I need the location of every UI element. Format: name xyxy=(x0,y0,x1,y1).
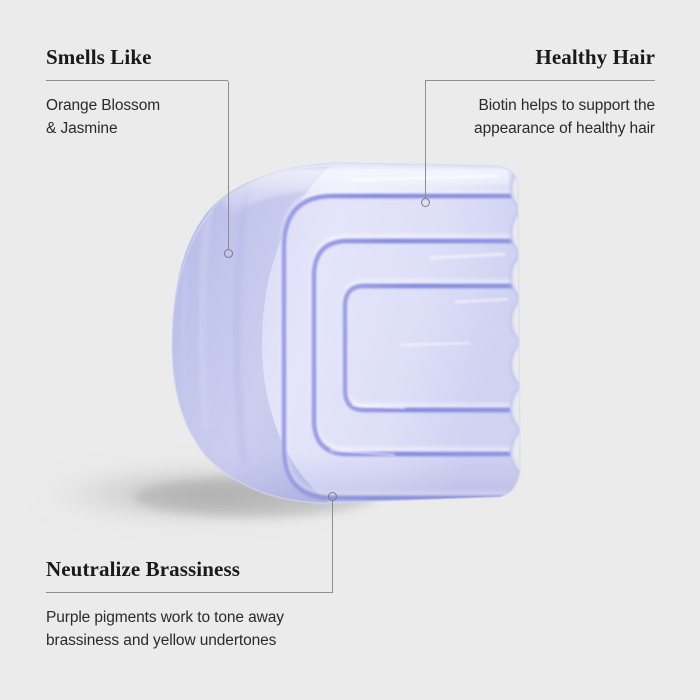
callout-rule-smells-like xyxy=(46,80,228,81)
callout-title-healthy-hair: Healthy Hair xyxy=(425,45,655,69)
callout-rule-neutralize-brassiness xyxy=(46,592,332,593)
marker-healthy-hair xyxy=(421,198,430,207)
callout-body-line-2: appearance of healthy hair xyxy=(474,120,655,137)
callout-title-smells-like: Smells Like xyxy=(46,45,228,69)
callout-body-smells-like: Orange Blossom & Jasmine xyxy=(46,94,228,140)
callout-body-line-2: & Jasmine xyxy=(46,120,117,137)
callout-rule-healthy-hair xyxy=(425,80,655,81)
marker-neutralize-brassiness xyxy=(328,492,337,501)
callout-title-neutralize-brassiness: Neutralize Brassiness xyxy=(46,557,332,581)
callout-smells-like: Smells Like Orange Blossom & Jasmine xyxy=(46,45,228,140)
callout-body-line-1: Purple pigments work to tone away xyxy=(46,609,284,626)
callout-body-neutralize-brassiness: Purple pigments work to tone away brassi… xyxy=(46,606,332,652)
callout-neutralize-brassiness: Neutralize Brassiness Purple pigments wo… xyxy=(46,557,332,652)
callout-body-line-1: Biotin helps to support the xyxy=(478,97,655,114)
leader-line-smells-like xyxy=(228,81,229,249)
callout-body-healthy-hair: Biotin helps to support the appearance o… xyxy=(425,94,655,140)
leader-line-neutralize-brassiness xyxy=(332,501,333,593)
callout-body-line-2: brassiness and yellow undertones xyxy=(46,632,276,649)
soap-bar xyxy=(160,163,540,508)
marker-smells-like xyxy=(224,249,233,258)
callout-body-line-1: Orange Blossom xyxy=(46,97,160,114)
callout-healthy-hair: Healthy Hair Biotin helps to support the… xyxy=(425,45,655,140)
infographic-canvas: Smells Like Orange Blossom & Jasmine Hea… xyxy=(0,0,700,700)
